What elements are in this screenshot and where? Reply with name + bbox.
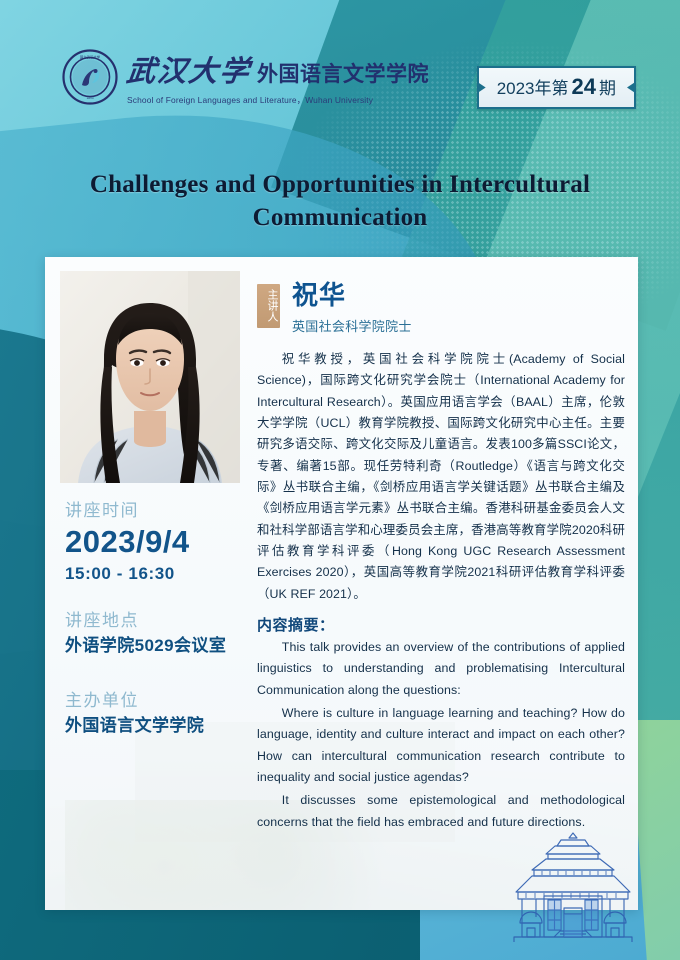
page-title: Challenges and Opportunities in Intercul… [50,168,630,234]
abstract-heading: 内容摘要： [257,614,625,635]
lecture-time-label: 讲座时间 [65,499,255,523]
abstract-paragraph: Where is culture in language learning an… [257,703,625,788]
logo-school-name: 外国语言文学学院 [257,58,429,88]
content-card: 讲座时间 2023/9/4 15:00 - 16:30 讲座地点 外语学院502… [45,257,638,910]
title-line-1: Challenges and Opportunities in Intercul… [50,168,630,201]
logo-university-name: 武汉大学 [124,48,253,90]
issue-number-badge: 2023年第24期 [477,66,636,109]
speaker-identity: 祝华 英国社会科学院院士 [292,281,412,335]
abstract-paragraph: It discusses some epistemological and me… [257,790,625,833]
title-line-2: Communication [50,201,630,234]
wuhan-university-seal-icon: 国立武汉大学 1893 [62,49,118,105]
speaker-header: 主讲人 祝华 英国社会科学院院士 [257,281,625,339]
speaker-column: 主讲人 祝华 英国社会科学院院士 祝华教授，英国社会科学院院士(Academy … [257,281,625,833]
lecture-organizer-value: 外国语言文学学院 [65,714,255,739]
lecture-poster: 国立武汉大学 1893 武汉大学 外国语言文学学院 School of Fore… [0,0,680,960]
lecture-organizer-group: 主办单位 外国语言文学学院 [65,689,255,738]
poster-header: 国立武汉大学 1893 武汉大学 外国语言文学学院 School of Fore… [0,0,680,130]
speaker-bio: 祝华教授，英国社会科学院院士(Academy of Social Science… [257,349,625,605]
issue-prefix: 2023年第 [497,79,569,98]
lecture-organizer-label: 主办单位 [65,689,255,713]
lecture-place-label: 讲座地点 [65,609,255,633]
speaker-title: 英国社会科学院院士 [292,316,412,335]
lecture-time-value: 15:00 - 16:30 [65,564,255,584]
logo-english-name: School of Foreign Languages and Literatu… [127,94,429,106]
old-library-line-art-icon [502,830,644,942]
lecture-date-value: 2023/9/4 [65,524,255,561]
speaker-name: 祝华 [292,281,412,310]
issue-suffix: 期 [599,79,616,98]
abstract-paragraph: This talk provides an overview of the co… [257,637,625,701]
speaker-portrait [60,271,240,483]
lecture-time-group: 讲座时间 2023/9/4 15:00 - 16:30 [65,499,255,584]
university-logo: 国立武汉大学 1893 武汉大学 外国语言文学学院 School of Fore… [62,48,429,106]
svg-text:1893: 1893 [86,96,93,100]
svg-text:国立武汉大学: 国立武汉大学 [80,55,101,60]
lecture-place-group: 讲座地点 外语学院5029会议室 [65,609,255,658]
speaker-role-tag: 主讲人 [257,284,280,328]
logo-wordmark: 武汉大学 外国语言文学学院 School of Foreign Language… [127,48,429,106]
issue-number: 24 [569,74,599,99]
lecture-place-value: 外语学院5029会议室 [65,634,255,659]
